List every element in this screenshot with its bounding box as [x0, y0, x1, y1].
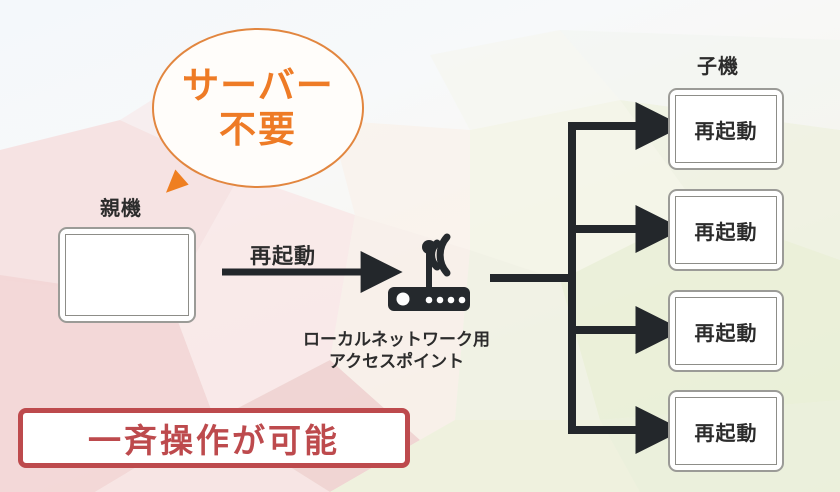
child-device-tablet: 再起動: [668, 290, 784, 372]
child-device-screen: 再起動: [675, 95, 777, 163]
simultaneous-operation-banner: 一斉操作が可能: [18, 408, 410, 468]
parent-device-tablet: [58, 227, 196, 323]
child-devices-label: 子機: [697, 50, 739, 79]
diagram-canvas: サーバー 不要 親機 再起動 ローカルネットワーク用 アクセスポイント 子機: [0, 0, 840, 492]
access-point-caption-line-2: アクセスポイント: [303, 352, 490, 374]
child-device-screen-text: 再起動: [695, 417, 758, 446]
access-point-caption-line-1: ローカルネットワーク用: [303, 330, 490, 352]
parent-device-screen: [65, 234, 189, 316]
child-device-tablet: 再起動: [668, 189, 784, 271]
reboot-arrow-label: 再起動: [250, 240, 316, 270]
parent-device-label: 親機: [100, 192, 142, 221]
child-device-screen: 再起動: [675, 196, 777, 264]
child-device-screen: 再起動: [675, 397, 777, 465]
child-device-tablet: 再起動: [668, 390, 784, 472]
child-device-screen-text: 再起動: [695, 317, 758, 346]
banner-text: 一斉操作が可能: [88, 414, 340, 462]
wifi-router-icon: [381, 223, 477, 315]
child-device-screen: 再起動: [675, 297, 777, 365]
child-device-screen-text: 再起動: [695, 115, 758, 144]
server-not-required-callout: サーバー 不要: [152, 28, 364, 188]
child-device-screen-text: 再起動: [695, 216, 758, 245]
child-device-tablet: 再起動: [668, 88, 784, 170]
callout-line-2: 不要: [219, 110, 297, 150]
callout-line-1: サーバー: [182, 66, 334, 106]
access-point-caption: ローカルネットワーク用 アクセスポイント: [303, 330, 490, 374]
